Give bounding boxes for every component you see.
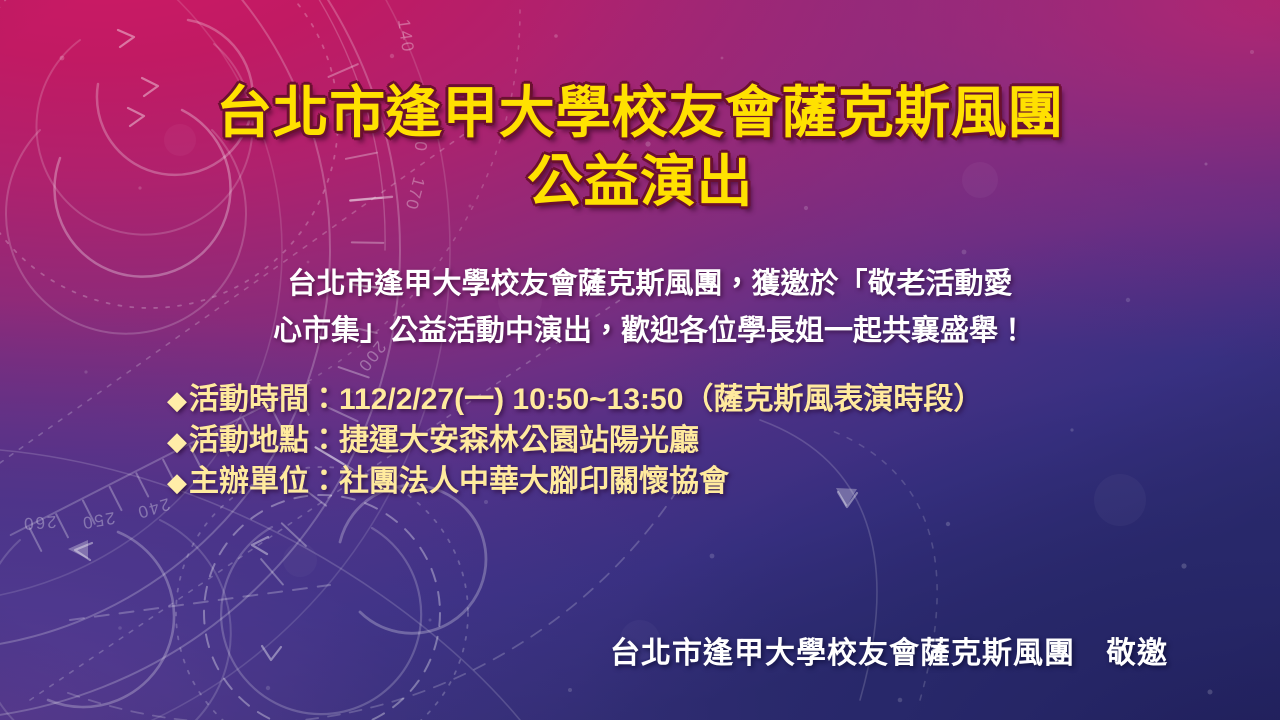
list-item: ◆ 活動地點：捷運大安森林公園站陽光廳	[167, 421, 1177, 462]
slide-details-list: ◆ 活動時間：112/2/27(一) 10:50~13:50（薩克斯風表演時段）…	[167, 380, 1177, 502]
slide-title: 台北市逢甲大學校友會薩克斯風團 公益演出	[0, 78, 1280, 217]
presentation-slide: 140 160 170 200 240 250 260	[0, 0, 1280, 720]
list-item-label: 活動時間：112/2/27(一) 10:50~13:50（薩克斯風表演時段）	[189, 380, 983, 421]
list-item: ◆ 活動時間：112/2/27(一) 10:50~13:50（薩克斯風表演時段）	[167, 380, 1177, 421]
list-item-label: 主辦單位：社團法人中華大腳印關懷協會	[189, 462, 729, 503]
slide-content: 台北市逢甲大學校友會薩克斯風團 公益演出 台北市逢甲大學校友會薩克斯風團，獲邀於…	[0, 0, 1280, 720]
slide-signature: 台北市逢甲大學校友會薩克斯風團 敬邀	[610, 628, 1168, 672]
diamond-bullet-icon: ◆	[167, 428, 187, 454]
list-item-label: 活動地點：捷運大安森林公園站陽光廳	[189, 421, 699, 462]
diamond-bullet-icon: ◆	[167, 469, 187, 495]
slide-intro-paragraph: 台北市逢甲大學校友會薩克斯風團，獲邀於「敬老活動愛 心市集」公益活動中演出，歡迎…	[150, 261, 1150, 355]
list-item: ◆ 主辦單位：社團法人中華大腳印關懷協會	[167, 462, 1177, 503]
diamond-bullet-icon: ◆	[167, 387, 187, 413]
